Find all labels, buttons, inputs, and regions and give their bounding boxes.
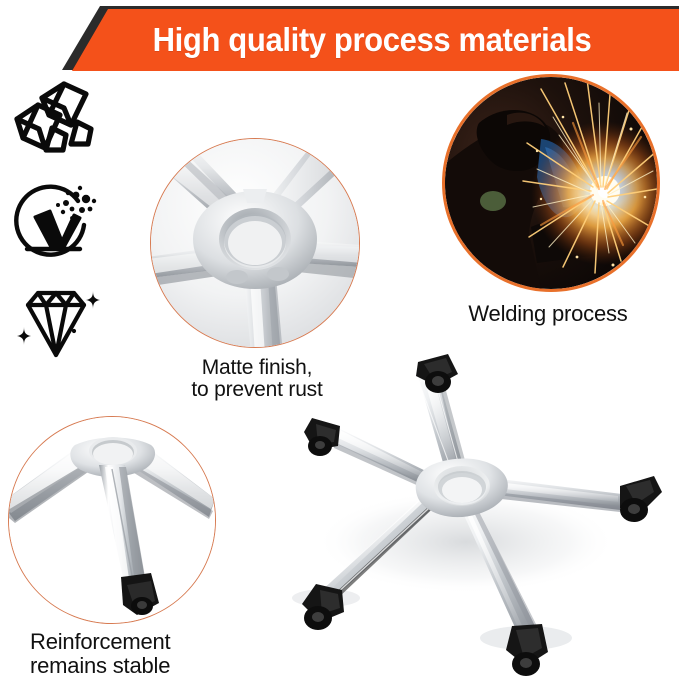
- diamond-sparkle-icon: [8, 283, 104, 363]
- metal-ingots-icon: [8, 78, 104, 160]
- caster-left: [304, 418, 340, 456]
- reinforcement-panel: Reinforcement remains stable: [8, 416, 222, 677]
- welding-process-photo: [442, 74, 660, 292]
- caster-bottom: [506, 624, 548, 676]
- infographic-page: High quality process materials: [0, 0, 679, 692]
- caster-right: [620, 476, 662, 522]
- reinforcement-caption: Reinforcement remains stable: [8, 630, 222, 677]
- page-title: High quality process materials: [90, 9, 654, 71]
- sandblast-polish-icon: [10, 183, 102, 273]
- welding-process-caption: Welding process: [432, 302, 664, 326]
- chair-base-product-photo: [276, 346, 676, 686]
- welding-process-panel: Welding process: [432, 74, 664, 326]
- reinforcement-photo: [8, 416, 216, 624]
- matte-finish-photo: [150, 138, 360, 348]
